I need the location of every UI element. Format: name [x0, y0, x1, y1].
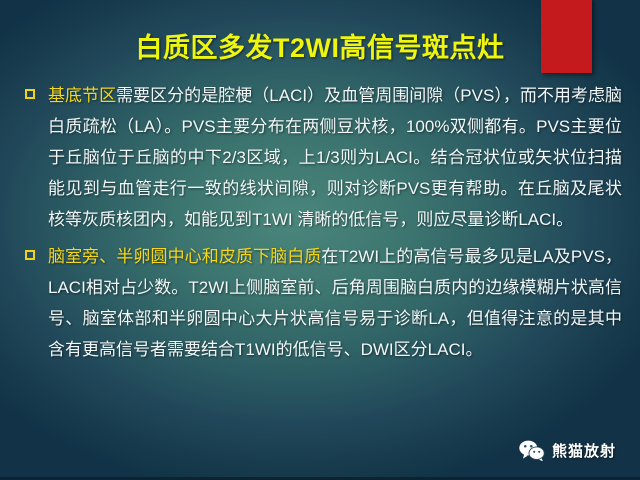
presentation-slide: 白质区多发T2WI高信号斑点灶 基底节区需要区分的是腔梗（LACI）及血管周围间… [0, 0, 640, 480]
wechat-icon [519, 440, 545, 461]
slide-title: 白质区多发T2WI高信号斑点灶 [0, 26, 640, 65]
watermark: 熊猫放射 [519, 440, 616, 461]
bullet-item: 基底节区需要区分的是腔梗（LACI）及血管周围间隙（PVS），而不用考虑脑白质疏… [22, 80, 622, 235]
hollow-square-bullet-icon [25, 250, 35, 260]
hollow-square-bullet-icon [25, 89, 35, 99]
watermark-label: 熊猫放射 [552, 440, 616, 461]
bullet-item: 脑室旁、半卵圆中心和皮质下脑白质在T2WI上的高信号最多见是LA及PVS，LAC… [22, 241, 622, 365]
bullet-highlight-text: 脑室旁、半卵圆中心和皮质下脑白质 [48, 247, 321, 266]
bullet-highlight-text: 基底节区 [48, 86, 116, 105]
slide-body: 基底节区需要区分的是腔梗（LACI）及血管周围间隙（PVS），而不用考虑脑白质疏… [22, 80, 622, 371]
bullet-body-text: 需要区分的是腔梗（LACI）及血管周围间隙（PVS），而不用考虑脑白质疏松（LA… [48, 86, 622, 229]
